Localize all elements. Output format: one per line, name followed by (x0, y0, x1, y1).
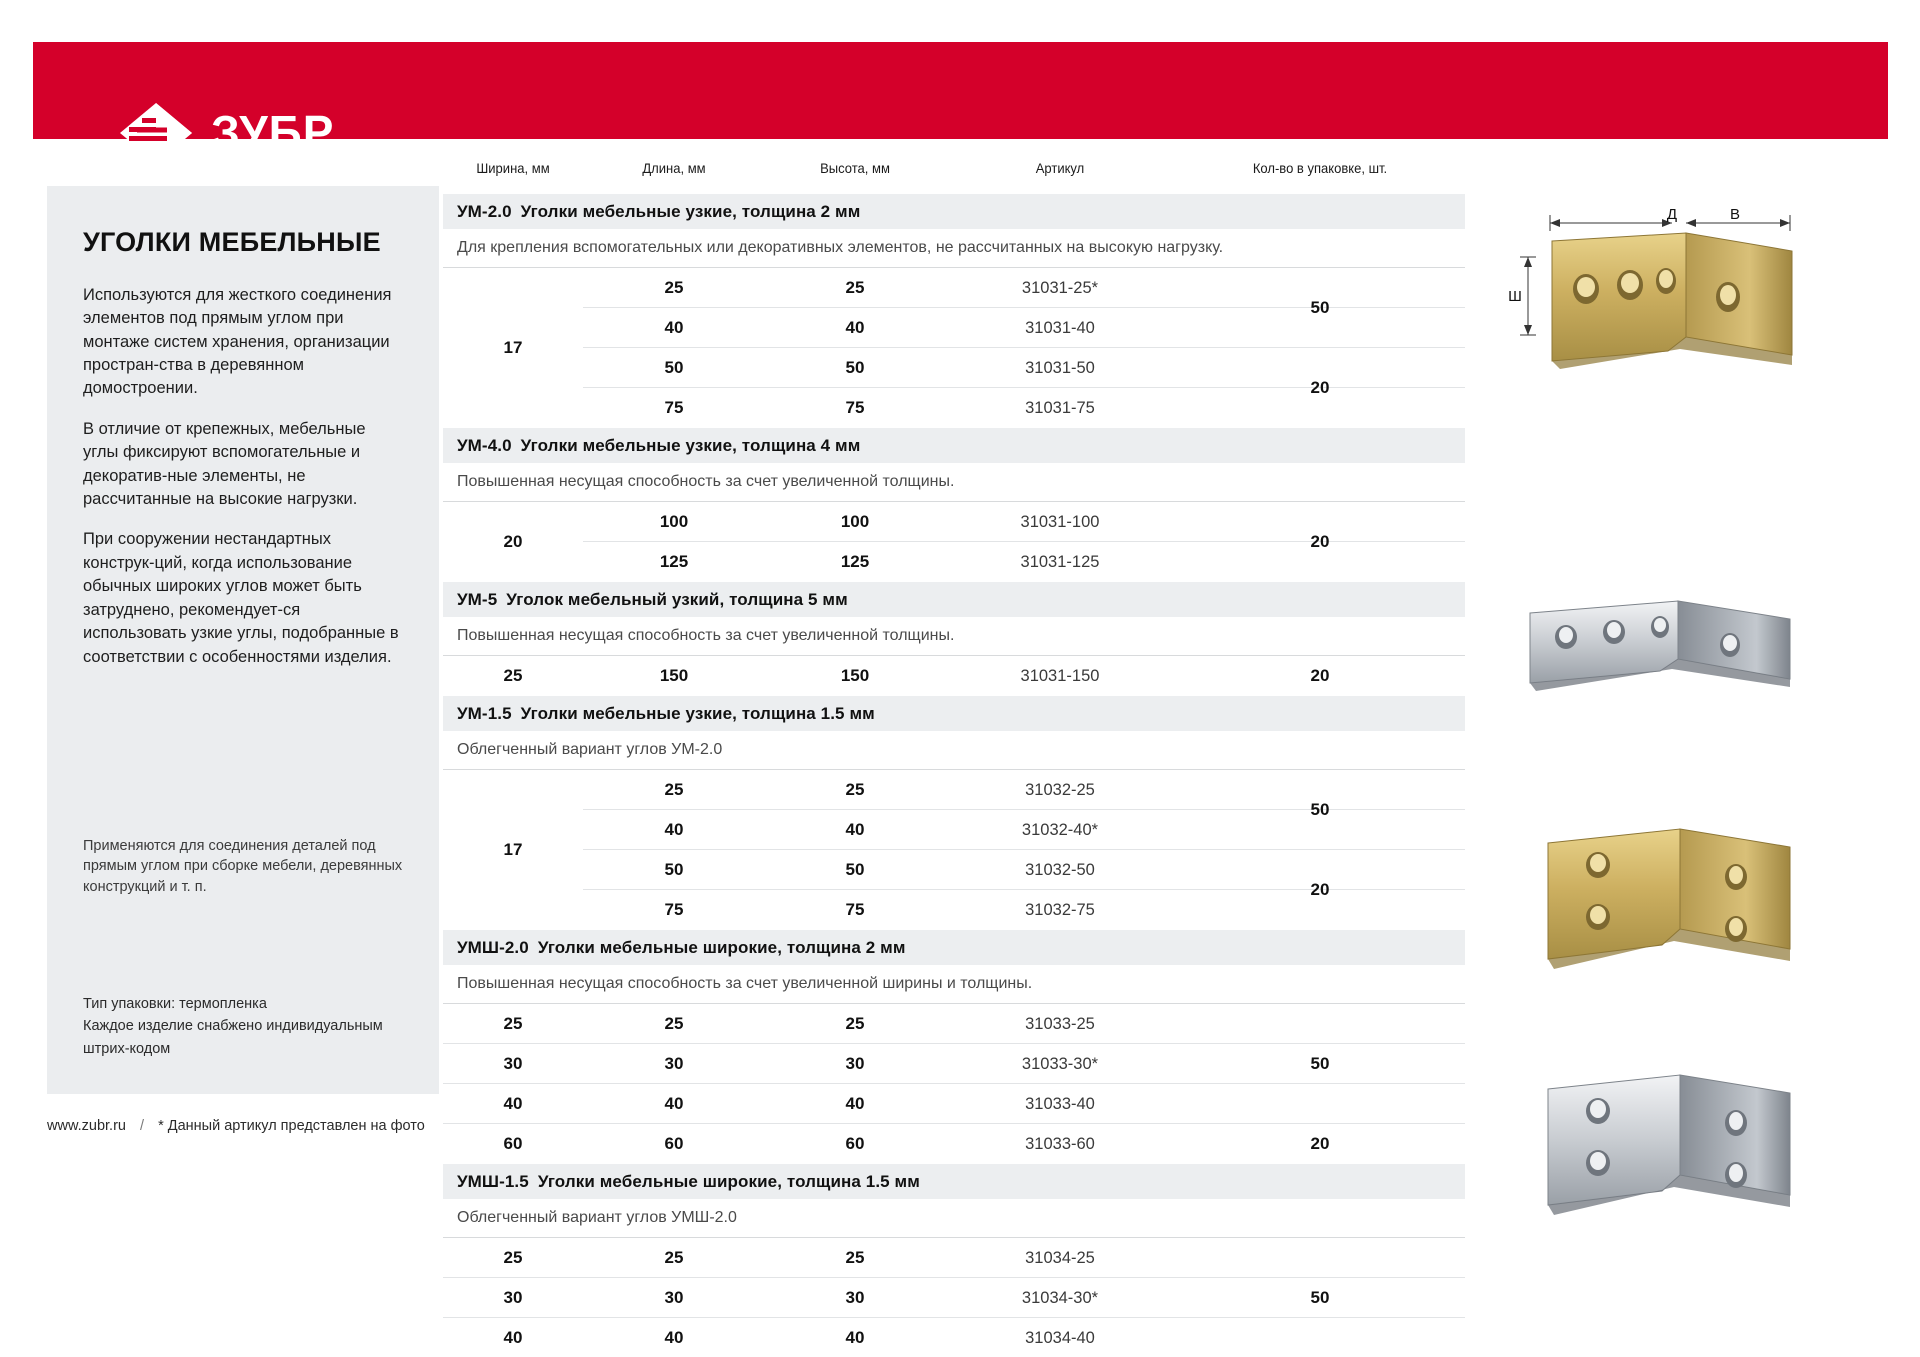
column-header-quantity: Кол-во в упаковке, шт. (1185, 160, 1455, 176)
cell-article: 31034-25 (945, 1238, 1175, 1278)
cell-height: 125 (765, 542, 945, 582)
cell-quantity-span: 20 (1175, 502, 1465, 582)
cell-height: 30 (765, 1044, 945, 1084)
table-sections: УМ-2.0Уголки мебельные узкие, толщина 2 … (443, 194, 1465, 1357)
product-images: Д В Ш (1490, 185, 1890, 1247)
cell-length: 75 (583, 388, 765, 428)
cell-height: 40 (765, 1318, 945, 1357)
cell-quantity: 20 (1175, 656, 1465, 696)
footnote: * Данный артикул представлен на фото (158, 1118, 425, 1134)
cell-width: 40 (443, 1084, 583, 1124)
column-header-article: Артикул (953, 160, 1167, 176)
section-title: Уголки мебельные широкие, толщина 2 мм (538, 938, 906, 958)
cell-length: 60 (583, 1124, 765, 1164)
cell-width: 25 (443, 1238, 583, 1278)
packaging-info: Тип упаковки: термопленка Каждое изделие… (83, 993, 423, 1060)
table-section: УМШ-1.5Уголки мебельные широкие, толщина… (443, 1164, 1465, 1357)
column-header-width: Ширина, мм (448, 160, 578, 176)
cell-article: 31033-30* (945, 1044, 1175, 1084)
product-image-brass-dimensioned: Д В Ш (1490, 185, 1890, 415)
section-title: Уголки мебельные узкие, толщина 2 мм (521, 202, 861, 222)
cell-article: 31033-60 (945, 1124, 1175, 1164)
cell-height: 25 (765, 1238, 945, 1278)
cell-length: 30 (583, 1044, 765, 1084)
cell-width-span: 17 (443, 268, 583, 428)
dim-label-width: В (1730, 206, 1740, 223)
datasheet-page: ЗУБР УГОЛКИ МЕБЕЛЬНЫЕ Используются для ж… (0, 0, 1920, 1357)
sidebar: УГОЛКИ МЕБЕЛЬНЫЕ Используются для жестко… (47, 186, 439, 1094)
section-description: Для крепления вспомогательных или декора… (443, 229, 1465, 267)
cell-length: 25 (583, 1004, 765, 1044)
website-link[interactable]: www.zubr.ru (47, 1118, 126, 1134)
section-header: УМ-2.0Уголки мебельные узкие, толщина 2 … (443, 194, 1465, 229)
cell-article: 31032-25 (945, 770, 1175, 810)
section-header: УМ-4.0Уголки мебельные узкие, толщина 4 … (443, 428, 1465, 463)
section-rows: 10010031031-10012512531031-1252020 (443, 501, 1465, 582)
dim-label-height: Ш (1508, 288, 1522, 305)
cell-length: 75 (583, 890, 765, 930)
cell-height: 25 (765, 268, 945, 308)
cell-width: 30 (443, 1278, 583, 1318)
cell-article: 31034-30* (945, 1278, 1175, 1318)
cell-article: 31031-50 (945, 348, 1175, 388)
cell-width: 25 (443, 1004, 583, 1044)
cell-quantity-span: 50 (1175, 268, 1465, 348)
table-row: 2515015031031-15020 (443, 656, 1465, 696)
section-header: УМ-5Уголок мебельный узкий, толщина 5 мм (443, 582, 1465, 617)
zubr-diamond-icon (119, 102, 193, 164)
section-code: УМ-1.5 (457, 704, 512, 724)
cell-length: 100 (583, 502, 765, 542)
cell-length: 40 (583, 810, 765, 850)
cell-quantity-span: 20 (1175, 850, 1465, 930)
section-title: Уголки мебельные узкие, толщина 4 мм (521, 436, 861, 456)
cell-quantity-span: 50 (1175, 1238, 1465, 1357)
section-code: УМШ-2.0 (457, 938, 529, 958)
cell-length: 40 (583, 1084, 765, 1124)
section-header: УМШ-2.0Уголки мебельные широкие, толщина… (443, 930, 1465, 965)
cell-article: 31031-125 (945, 542, 1175, 582)
specifications-table: Ширина, мм Длина, мм Высота, мм Артикул … (443, 160, 1465, 1357)
cell-article: 31032-75 (945, 890, 1175, 930)
section-description: Повышенная несущая способность за счет у… (443, 965, 1465, 1003)
cell-height: 50 (765, 850, 945, 890)
zubr-wordmark: ЗУБР (211, 108, 471, 158)
cell-quantity-span: 20 (1175, 1124, 1465, 1164)
product-image-brass-wide (1490, 803, 1890, 993)
sidebar-paragraph-2: В отличие от крепежных, мебельные углы ф… (83, 418, 403, 512)
cell-article: 31031-100 (945, 502, 1175, 542)
column-header-length: Длина, мм (589, 160, 758, 176)
column-header-height: Высота, мм (771, 160, 938, 176)
cell-article: 31032-40* (945, 810, 1175, 850)
cell-length: 50 (583, 850, 765, 890)
section-description: Повышенная несущая способность за счет у… (443, 617, 1465, 655)
sidebar-paragraph-1: Используются для жесткого соединения эле… (83, 284, 403, 401)
cell-article: 31031-40 (945, 308, 1175, 348)
cell-quantity-span: 50 (1175, 1004, 1465, 1124)
section-description: Облегченный вариант углов УМШ-2.0 (443, 1199, 1465, 1237)
cell-height: 25 (765, 770, 945, 810)
product-image-zinc-narrow (1490, 575, 1890, 715)
table-section: УМ-1.5Уголки мебельные узкие, толщина 1.… (443, 696, 1465, 930)
cell-length: 30 (583, 1278, 765, 1318)
cell-height: 30 (765, 1278, 945, 1318)
section-title: Уголки мебельные узкие, толщина 1.5 мм (521, 704, 875, 724)
section-title: Уголок мебельный узкий, толщина 5 мм (506, 590, 847, 610)
table-header-row: Ширина, мм Длина, мм Высота, мм Артикул … (443, 160, 1465, 194)
svg-text:ЗУБР: ЗУБР (211, 108, 334, 158)
cell-length: 125 (583, 542, 765, 582)
section-rows: 252531031-25*404031031-40505031031-50757… (443, 267, 1465, 428)
section-code: УМ-5 (457, 590, 497, 610)
cell-length: 40 (583, 308, 765, 348)
table-section: УМ-4.0Уголки мебельные узкие, толщина 4 … (443, 428, 1465, 582)
cell-height: 60 (765, 1124, 945, 1164)
section-rows: 25252531034-2530303031034-30*40404031034… (443, 1237, 1465, 1357)
cell-article: 31033-40 (945, 1084, 1175, 1124)
cell-article: 31034-40 (945, 1318, 1175, 1357)
cell-height: 100 (765, 502, 945, 542)
section-code: УМ-2.0 (457, 202, 512, 222)
cell-length: 150 (583, 656, 765, 696)
cell-article: 31031-150 (945, 656, 1175, 696)
cell-height: 40 (765, 308, 945, 348)
cell-length: 25 (583, 1238, 765, 1278)
cell-height: 75 (765, 890, 945, 930)
cell-article: 31032-50 (945, 850, 1175, 890)
header-band: ЗУБР (33, 42, 1888, 139)
cell-height: 40 (765, 810, 945, 850)
packaging-type: Тип упаковки: термопленка (83, 993, 423, 1015)
cell-length: 25 (583, 770, 765, 810)
cell-article: 31031-25* (945, 268, 1175, 308)
cell-article: 31033-25 (945, 1004, 1175, 1044)
cell-width-span: 17 (443, 770, 583, 930)
cell-length: 25 (583, 268, 765, 308)
cell-width: 40 (443, 1318, 583, 1357)
section-rows: 252531032-25404031032-40*505031032-50757… (443, 769, 1465, 930)
section-title: Уголки мебельные широкие, толщина 1.5 мм (538, 1172, 920, 1192)
cell-height: 150 (765, 656, 945, 696)
barcode-note: Каждое изделие снабжено индивидуальным ш… (83, 1015, 423, 1060)
footer-separator: / (140, 1118, 144, 1134)
section-rows: 2515015031031-15020 (443, 655, 1465, 696)
section-code: УМШ-1.5 (457, 1172, 529, 1192)
cell-length: 40 (583, 1318, 765, 1357)
page-title: УГОЛКИ МЕБЕЛЬНЫЕ (83, 228, 403, 258)
section-description: Повышенная несущая способность за счет у… (443, 463, 1465, 501)
table-section: УМ-5Уголок мебельный узкий, толщина 5 мм… (443, 582, 1465, 696)
cell-width-span: 20 (443, 502, 583, 582)
section-code: УМ-4.0 (457, 436, 512, 456)
brand-logo: ЗУБР (119, 102, 471, 164)
footer: www.zubr.ru / * Данный артикул представл… (47, 1118, 425, 1134)
cell-width: 30 (443, 1044, 583, 1084)
sidebar-paragraph-3: При сооружении нестандартных конструк-ци… (83, 528, 403, 669)
table-section: УМ-2.0Уголки мебельные узкие, толщина 2 … (443, 194, 1465, 428)
cell-height: 25 (765, 1004, 945, 1044)
section-header: УМШ-1.5Уголки мебельные широкие, толщина… (443, 1164, 1465, 1199)
sidebar-note: Применяются для соединения деталей под п… (83, 836, 413, 897)
section-header: УМ-1.5Уголки мебельные узкие, толщина 1.… (443, 696, 1465, 731)
cell-width: 60 (443, 1124, 583, 1164)
cell-quantity-span: 50 (1175, 770, 1465, 850)
cell-length: 50 (583, 348, 765, 388)
cell-width: 25 (443, 656, 583, 696)
section-rows: 25252531033-2530303031033-30*40404031033… (443, 1003, 1465, 1164)
cell-quantity-span: 20 (1175, 348, 1465, 428)
section-description: Облегченный вариант углов УМ-2.0 (443, 731, 1465, 769)
dim-label-length: Д (1667, 206, 1677, 223)
cell-article: 31031-75 (945, 388, 1175, 428)
cell-height: 75 (765, 388, 945, 428)
cell-height: 40 (765, 1084, 945, 1124)
product-image-zinc-wide (1490, 1057, 1890, 1247)
table-section: УМШ-2.0Уголки мебельные широкие, толщина… (443, 930, 1465, 1164)
cell-height: 50 (765, 348, 945, 388)
